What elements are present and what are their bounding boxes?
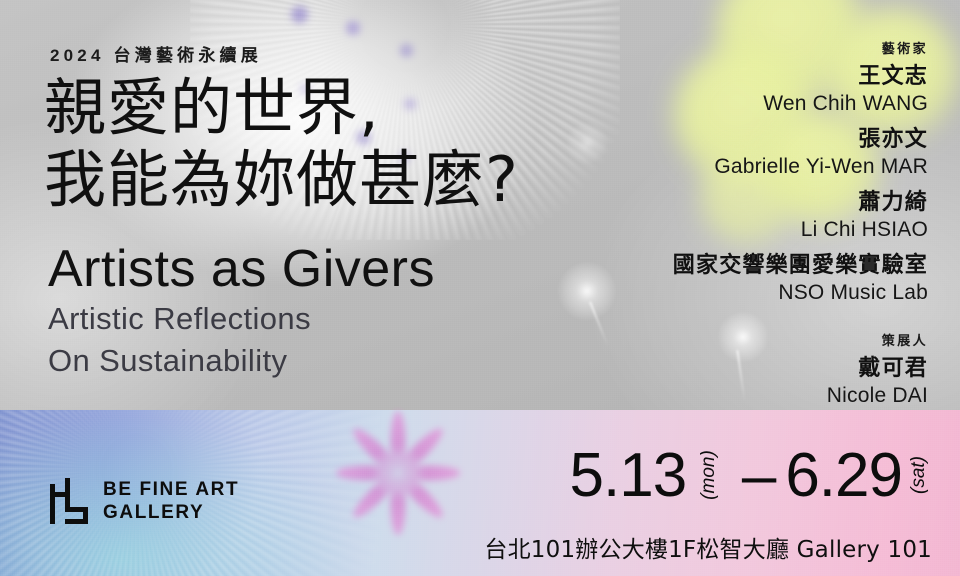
credit-artist-1-zh: 王文志 <box>508 63 928 90</box>
credit-artist-2-zh: 張亦文 <box>508 126 928 153</box>
title-english-sub-2: On Sustainability <box>48 340 435 382</box>
credit-artist-1-en: Wen Chih WANG <box>508 90 928 117</box>
dates-block: 5.13 (mon) – 6.29 (sat) 台北101辦公大樓1F松智大廳 … <box>412 443 932 564</box>
gallery-logo-line-1: BE FINE ART <box>103 478 239 501</box>
credit-artist-3-zh: 蕭力綺 <box>508 189 928 216</box>
curator-heading: 策展人 <box>508 330 928 349</box>
credit-artist-2-en: Gabrielle Yi-Wen MAR <box>508 153 928 180</box>
credit-artist-4-zh: 國家交響樂團愛樂實驗室 <box>508 252 928 279</box>
credit-artist-4: 國家交響樂團愛樂實驗室 NSO Music Lab <box>508 252 928 306</box>
artists-heading: 藝術家 <box>508 38 928 57</box>
credits-block: 藝術家 王文志 Wen Chih WANG 張亦文 Gabrielle Yi-W… <box>508 36 928 418</box>
date-end-day: (sat) <box>886 456 952 494</box>
credit-artist-4-en: NSO Music Lab <box>508 279 928 306</box>
gallery-logo[interactable]: BE FINE ART GALLERY <box>49 478 239 524</box>
bi-character-logo-icon <box>49 478 89 524</box>
date-start-day: (mon) <box>676 450 742 500</box>
gallery-logo-line-2: GALLERY <box>103 501 239 524</box>
credit-curator-en: Nicole DAI <box>508 382 928 409</box>
title-chinese: 親愛的世界, 我能為妳做甚麼? <box>44 72 519 216</box>
date-separator: – <box>742 443 775 509</box>
credit-curator-zh: 戴可君 <box>508 355 928 382</box>
title-english: Artists as Givers Artistic Reflections O… <box>48 240 435 382</box>
venue-text: 台北101辦公大樓1F松智大廳 Gallery 101 <box>412 530 932 564</box>
date-start: 5.13 <box>570 443 687 509</box>
gallery-logo-text: BE FINE ART GALLERY <box>103 478 239 524</box>
title-english-sub-1: Artistic Reflections <box>48 298 435 340</box>
date-end: 6.29 <box>785 443 902 509</box>
credit-artist-1: 王文志 Wen Chih WANG <box>508 63 928 117</box>
title-chinese-line-2: 我能為妳做甚麼? <box>44 144 519 216</box>
credit-artist-3-en: Li Chi HSIAO <box>508 216 928 243</box>
credit-artist-3: 蕭力綺 Li Chi HSIAO <box>508 189 928 243</box>
credit-curator: 戴可君 Nicole DAI <box>508 355 928 409</box>
title-chinese-line-1: 親愛的世界, <box>44 72 519 144</box>
date-range: 5.13 (mon) – 6.29 (sat) <box>412 443 932 524</box>
exhibition-poster: 2024 台灣藝術永續展 親愛的世界, 我能為妳做甚麼? Artists as … <box>0 0 960 576</box>
poster-content: 2024 台灣藝術永續展 親愛的世界, 我能為妳做甚麼? Artists as … <box>0 0 960 576</box>
exhibition-eyebrow: 2024 台灣藝術永續展 <box>50 41 262 66</box>
title-english-main: Artists as Givers <box>48 240 435 298</box>
credit-artist-2: 張亦文 Gabrielle Yi-Wen MAR <box>508 126 928 180</box>
